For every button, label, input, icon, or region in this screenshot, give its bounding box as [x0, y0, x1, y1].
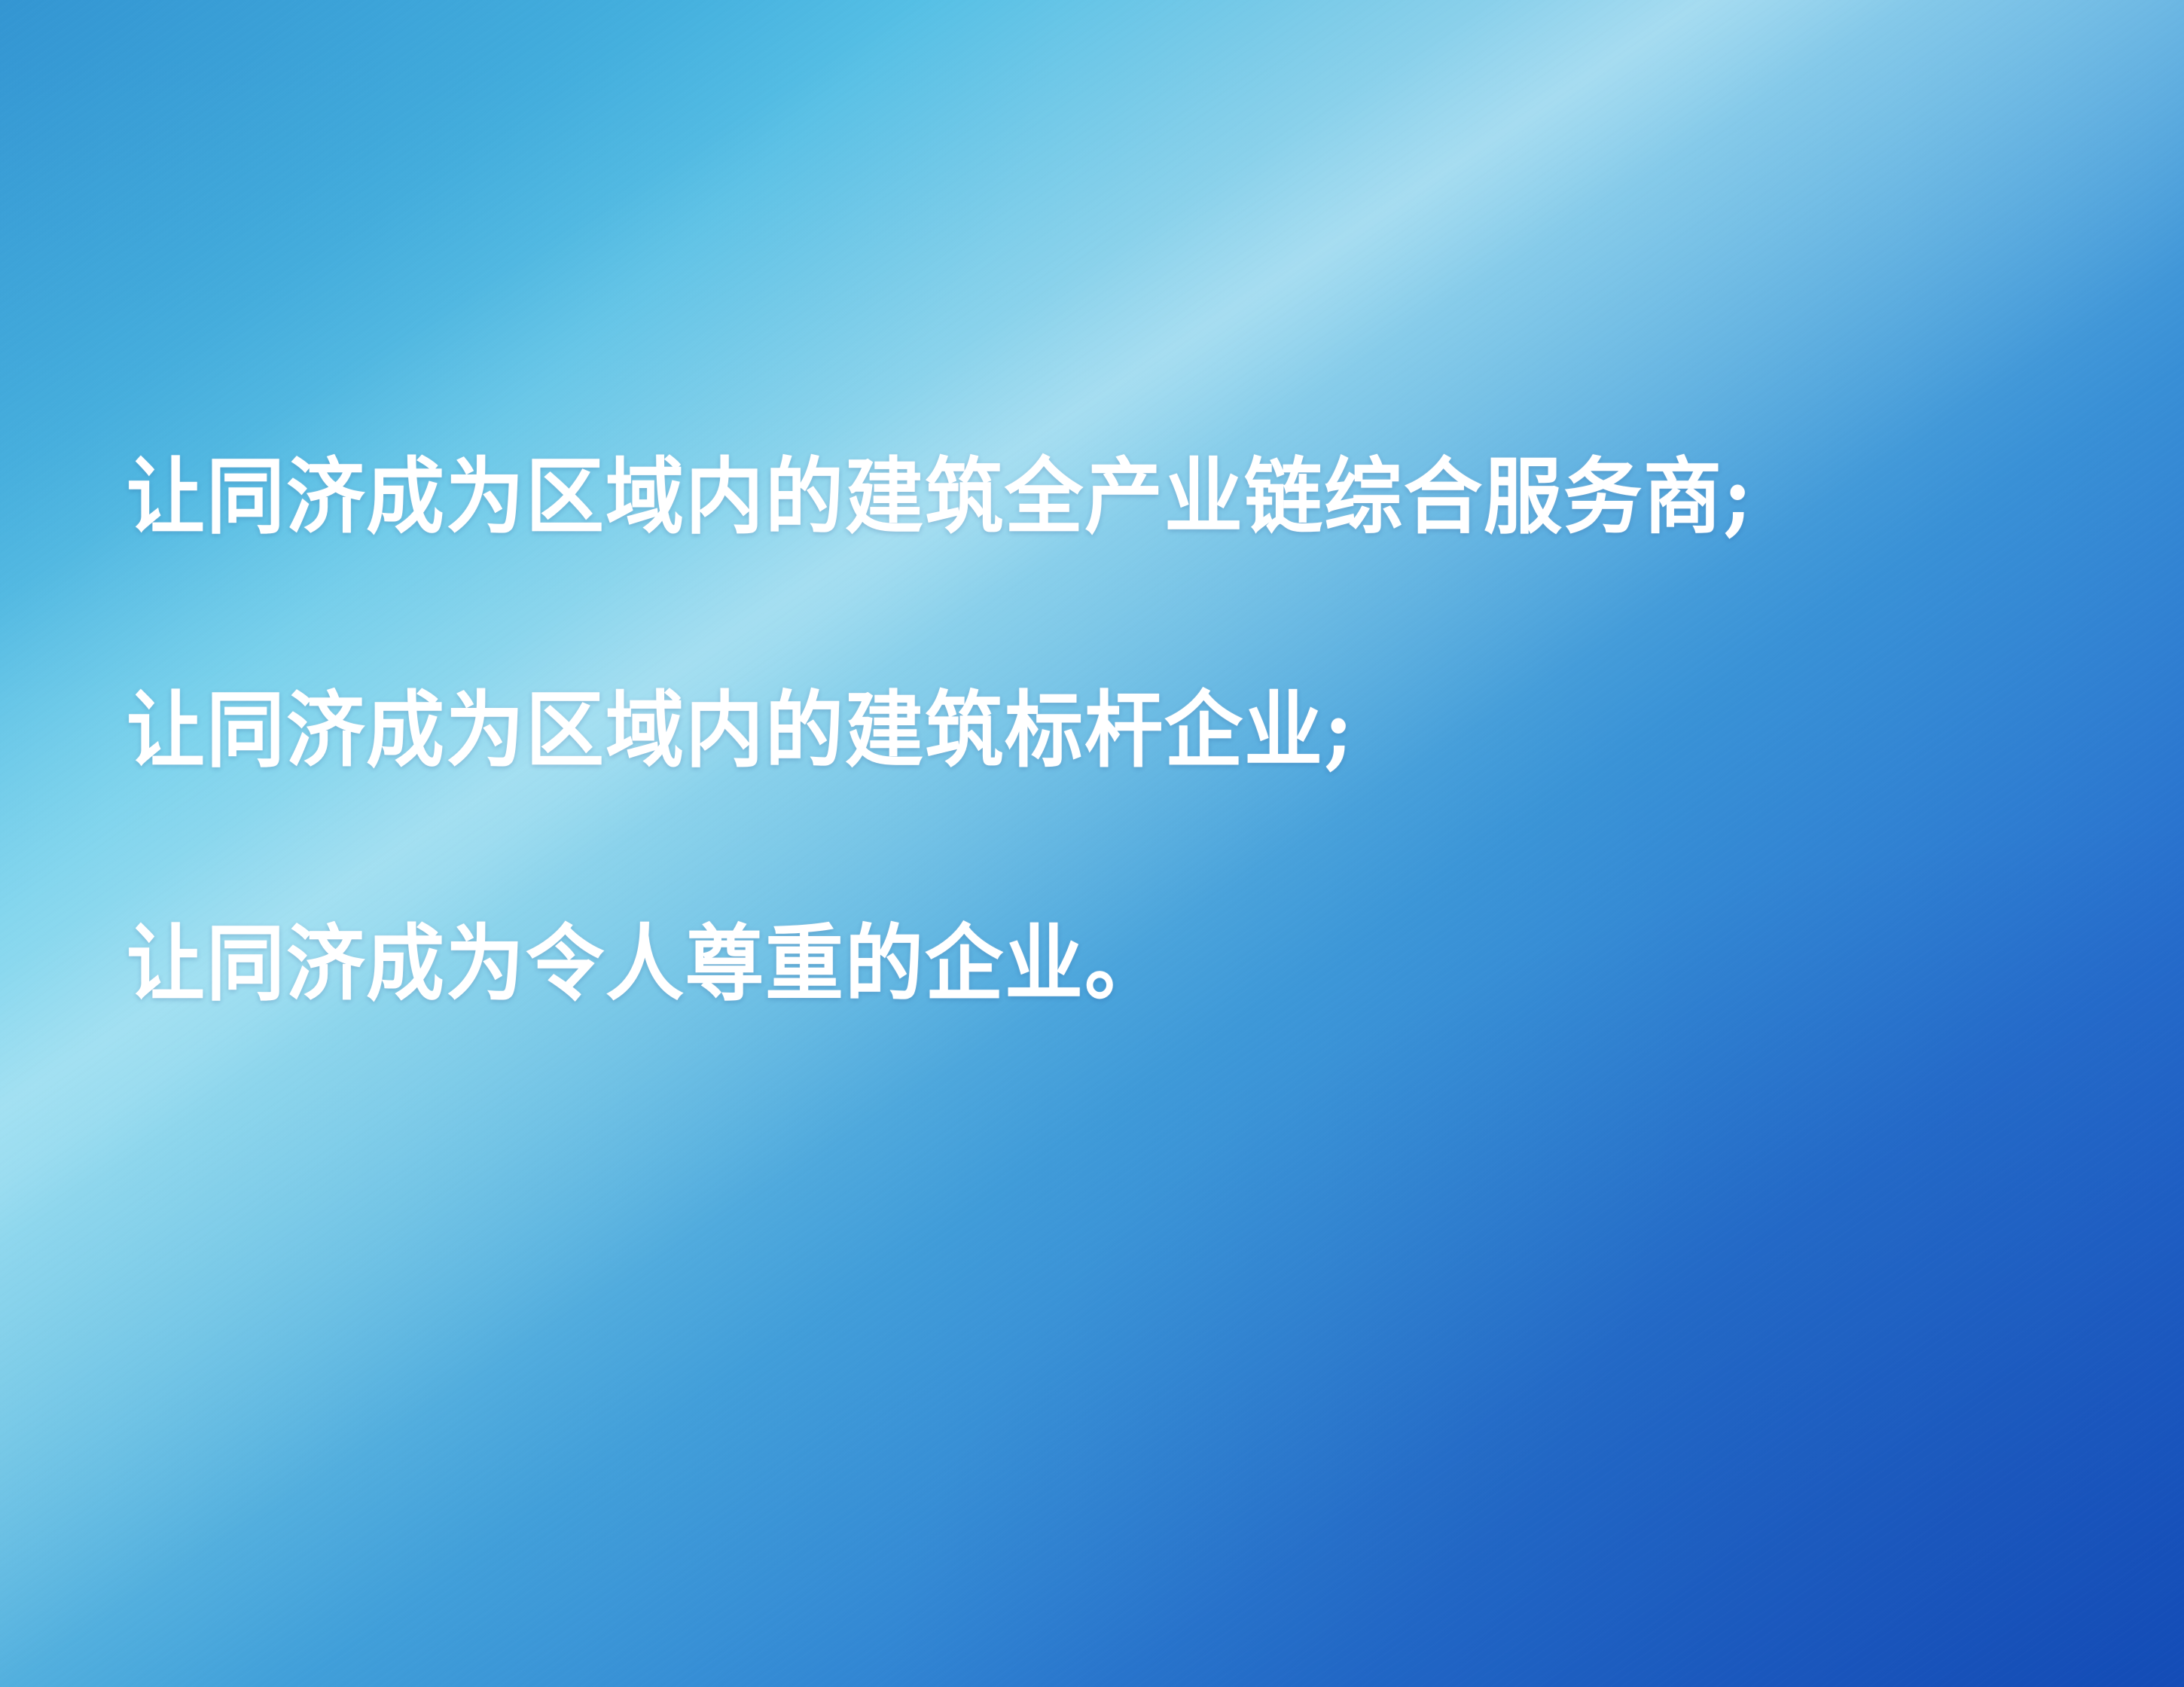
slide-canvas: 让同济成为区域内的建筑全产业链综合服务商; 让同济成为区域内的建筑标杆企业; 让… [0, 0, 2184, 1687]
slide-text-line-3: 让同济成为令人尊重的企业。 [127, 916, 2100, 1011]
slide-text-line-2: 让同济成为区域内的建筑标杆企业; [127, 682, 2100, 778]
slide-text-block: 让同济成为区域内的建筑全产业链综合服务商; 让同济成为区域内的建筑标杆企业; 让… [127, 449, 2100, 1006]
slide-text-line-1: 让同济成为区域内的建筑全产业链综合服务商; [127, 449, 2100, 545]
